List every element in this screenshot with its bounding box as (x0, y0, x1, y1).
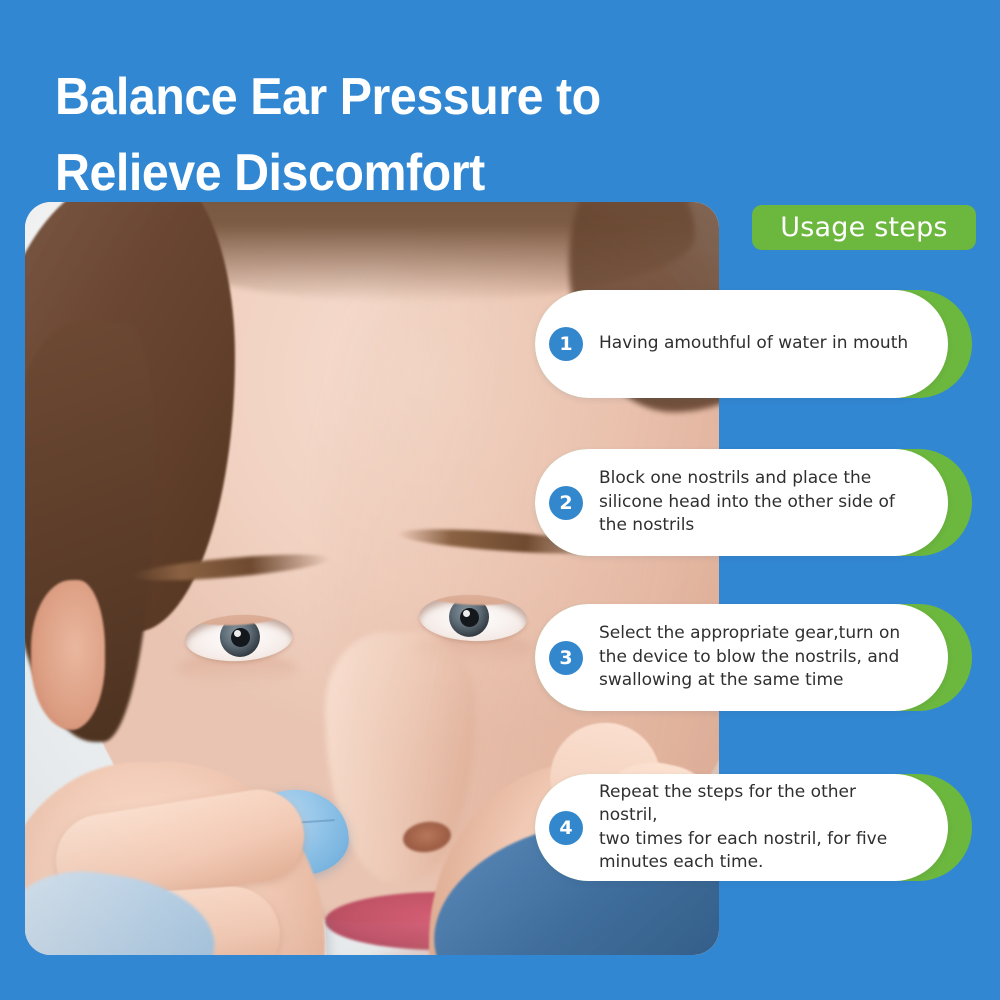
usage-steps-badge: Usage steps (752, 205, 976, 250)
step-text-3: Select the appropriate gear,turn on the … (599, 622, 900, 693)
step-card-3: 3 Select the appropriate gear,turn on th… (535, 604, 972, 711)
step-text-1: Having amouthful of water in mouth (599, 332, 908, 356)
step-card-4: 4 Repeat the steps for the other nostril… (535, 774, 972, 881)
infographic-page: Balance Ear Pressure to Relieve Discomfo… (0, 0, 1000, 1000)
step-number-2: 2 (549, 486, 583, 520)
step-card-2-body: 2 Block one nostrils and place the silic… (535, 449, 948, 556)
step-card-3-body: 3 Select the appropriate gear,turn on th… (535, 604, 948, 711)
step-number-4: 4 (549, 811, 583, 845)
step-text-4: Repeat the steps for the other nostril, … (599, 781, 914, 875)
usage-steps-label: Usage steps (780, 212, 947, 243)
step-card-1: 1 Having amouthful of water in mouth (535, 290, 972, 398)
step-card-1-body: 1 Having amouthful of water in mouth (535, 290, 948, 398)
step-card-2: 2 Block one nostrils and place the silic… (535, 449, 972, 556)
step-number-1: 1 (549, 327, 583, 361)
step-text-2: Block one nostrils and place the silicon… (599, 467, 895, 538)
step-card-4-body: 4 Repeat the steps for the other nostril… (535, 774, 948, 881)
page-title: Balance Ear Pressure to Relieve Discomfo… (55, 59, 762, 211)
step-number-3: 3 (549, 641, 583, 675)
